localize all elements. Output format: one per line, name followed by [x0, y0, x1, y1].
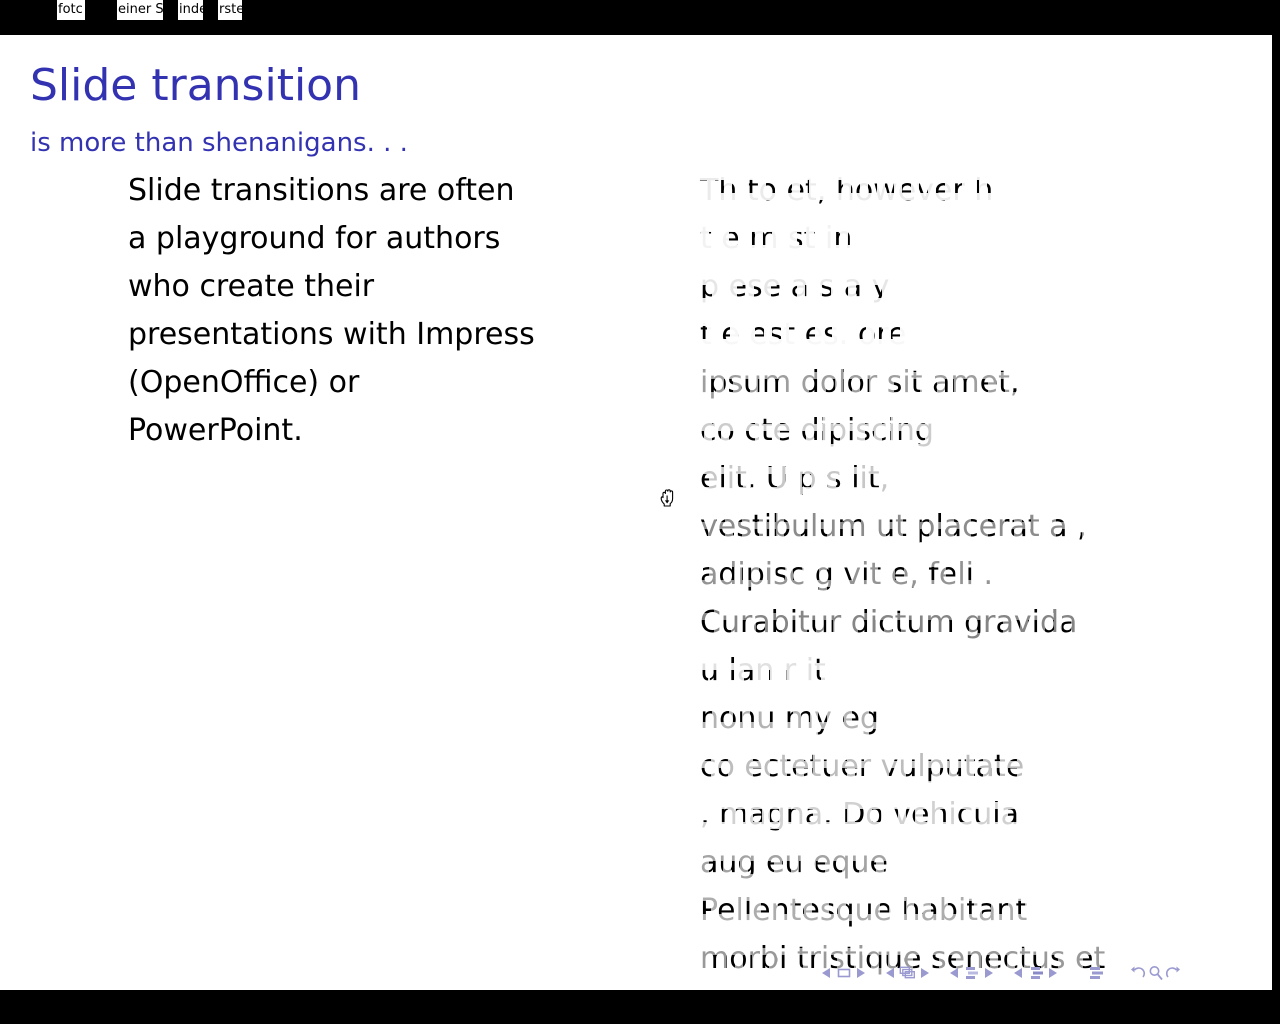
search-magnifier-icon[interactable]: [1147, 963, 1164, 983]
right-column-line: Curabitur dictum gravida: [700, 599, 1170, 647]
subsection-prev-triangle-left-icon[interactable]: [946, 963, 963, 983]
left-text-column: Slide transitions are often a playground…: [128, 167, 588, 455]
right-text-column: Th to et, however h t e m st in p ese a …: [700, 167, 1170, 983]
arrow-forward-icon[interactable]: [1164, 963, 1181, 983]
arrow-back-icon[interactable]: [1130, 963, 1147, 983]
window-title-fragment-3: inde: [178, 0, 203, 20]
slide-next-triangle-right-icon[interactable]: [852, 963, 869, 983]
left-column-line: (OpenOffice) or: [128, 359, 588, 407]
right-column-line-text: Th to et, however h: [700, 167, 993, 215]
right-column-line: t e m st in: [700, 215, 1170, 263]
section-current-bars-icon[interactable]: [1027, 963, 1044, 983]
section-next-triangle-right-icon[interactable]: [1044, 963, 1061, 983]
mouse-cursor-grabbing-hand-icon: [659, 487, 681, 511]
right-column-line: u lan r it: [700, 647, 1170, 695]
right-column-line-text: u lan r it: [700, 647, 826, 695]
right-column-line-text: co ectetuer vulputate: [700, 743, 1024, 791]
slide-canvas[interactable]: Slide transition is more than shenanigan…: [0, 35, 1272, 990]
frame-next-triangle-right-icon[interactable]: [916, 963, 933, 983]
right-column-line: vestibulum ut placerat a ,: [700, 503, 1170, 551]
right-column-line-text: vestibulum ut placerat a ,: [700, 503, 1087, 551]
right-column-line: co ectetuer vulputate: [700, 743, 1170, 791]
right-column-line: Th to et, however h: [700, 167, 1170, 215]
right-column-line: elit. U p s lit,: [700, 455, 1170, 503]
right-column-line: aug eu eque: [700, 839, 1170, 887]
left-column-line: a playground for authors: [128, 215, 588, 263]
frame-current-frames-stack-icon[interactable]: [899, 963, 916, 983]
right-column-line-text: aug eu eque: [700, 839, 888, 887]
right-column-line: p ese a s a y: [700, 263, 1170, 311]
window-title-fragment-4: rste: [218, 0, 242, 20]
right-column-line-text: ipsum dolor sit amet,: [700, 359, 1019, 407]
document-bars-icon[interactable]: [1087, 963, 1104, 983]
slide-subtitle: is more than shenanigans. . .: [30, 128, 408, 158]
subsection-current-bars-icon[interactable]: [963, 963, 980, 983]
right-column-line-text: Curabitur dictum gravida: [700, 599, 1077, 647]
right-column-line-text: Pellentesque habitant: [700, 887, 1027, 935]
window-title-fragment-1: fotc: [57, 0, 85, 20]
right-column-line-text: elit. U p s lit,: [700, 455, 889, 503]
right-column-line: t e est es. ore: [700, 311, 1170, 359]
right-column-line: nonu my eg: [700, 695, 1170, 743]
right-column-line: Pellentesque habitant: [700, 887, 1170, 935]
section-prev-triangle-left-icon[interactable]: [1010, 963, 1027, 983]
window-title-fragment-strip: fotc einer S inde rste: [0, 0, 1280, 35]
left-column-line: presentations with Impress: [128, 311, 588, 359]
beamer-navigation-bar[interactable]: [818, 961, 1181, 985]
right-column-line-text: nonu my eg: [700, 695, 879, 743]
slide-current-frame-icon[interactable]: [835, 963, 852, 983]
subsection-next-triangle-right-icon[interactable]: [980, 963, 997, 983]
right-column-line-text: p ese a s a y: [700, 263, 889, 311]
right-column-line-text: adipisc g vit e, feli .: [700, 551, 993, 599]
slide-prev-triangle-left-icon[interactable]: [818, 963, 835, 983]
left-column-line: Slide transitions are often: [128, 167, 588, 215]
right-column-line: adipisc g vit e, feli .: [700, 551, 1170, 599]
right-column-line-text: , magna. Do vehicula: [700, 791, 1019, 839]
right-column-line-text: t e est es. ore: [700, 311, 906, 359]
right-column-line: co cte dipiscing: [700, 407, 1170, 455]
frame-prev-triangle-left-icon[interactable]: [882, 963, 899, 983]
right-column-line: ipsum dolor sit amet,: [700, 359, 1170, 407]
bottom-letterbox-bar: [0, 990, 1280, 1024]
right-column-line-text: co cte dipiscing: [700, 407, 934, 455]
left-column-line: who create their: [128, 263, 588, 311]
window-title-fragment-2: einer S: [117, 0, 163, 20]
slide-title: Slide transition: [30, 60, 361, 111]
right-column-line: , magna. Do vehicula: [700, 791, 1170, 839]
right-column-line-text: t e m st in: [700, 215, 852, 263]
right-letterbox-bar: [1272, 35, 1280, 990]
left-column-line: PowerPoint.: [128, 407, 588, 455]
